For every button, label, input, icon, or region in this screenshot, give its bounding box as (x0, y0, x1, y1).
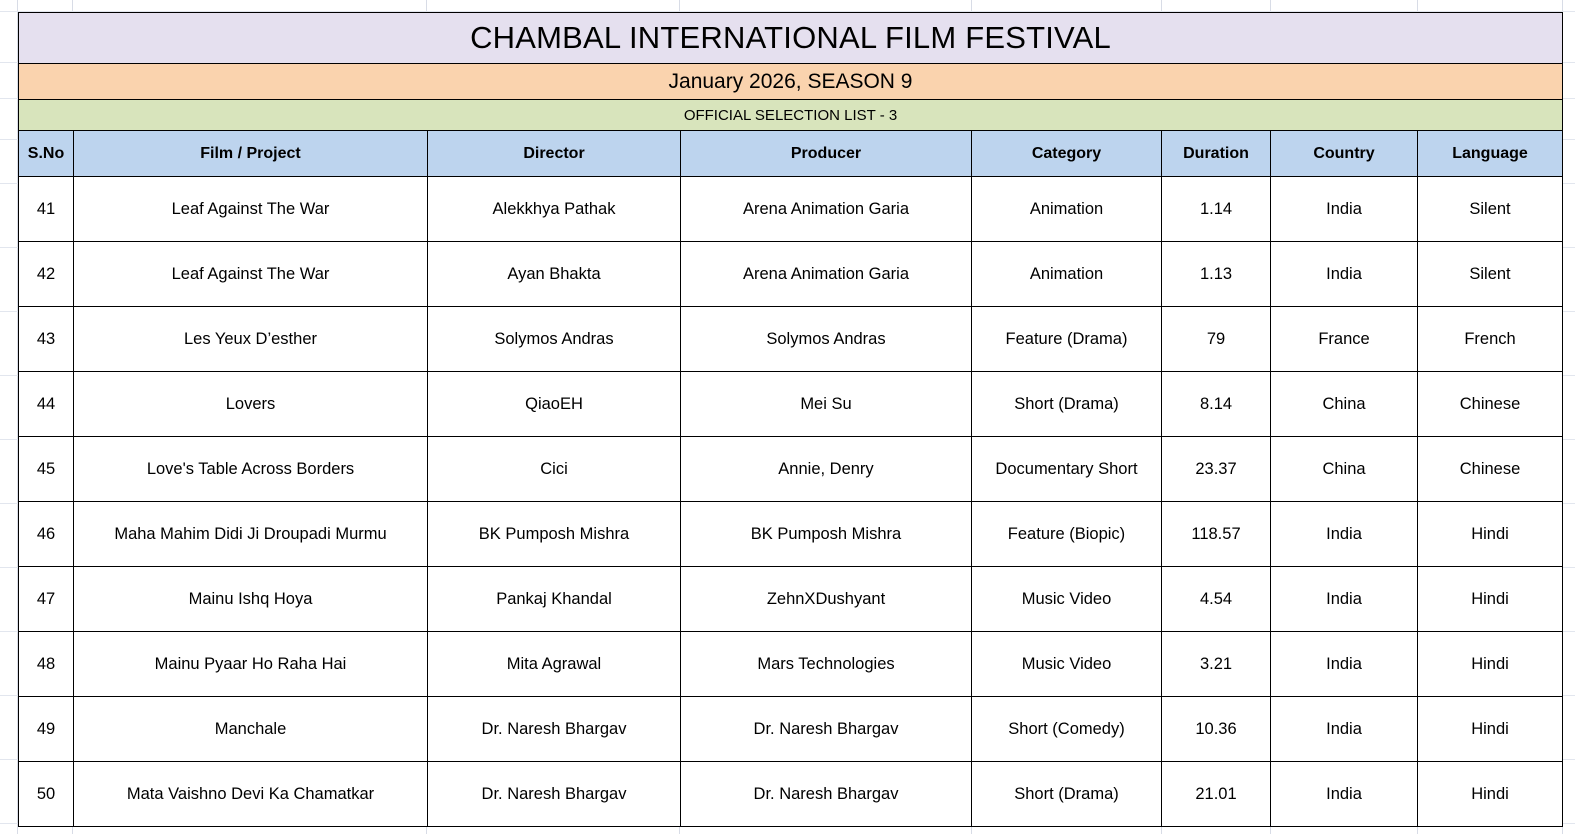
cell-producer[interactable]: Dr. Naresh Bhargav (681, 697, 972, 762)
cell-sno[interactable]: 48 (19, 632, 74, 697)
table-row[interactable]: 44LoversQiaoEHMei SuShort (Drama)8.14Chi… (19, 372, 1563, 437)
cell-country[interactable]: India (1271, 177, 1418, 242)
cell-sno[interactable]: 46 (19, 502, 74, 567)
cell-film[interactable]: Les Yeux D’esther (74, 307, 428, 372)
cell-director[interactable]: Ayan Bhakta (428, 242, 681, 307)
cell-sno[interactable]: 47 (19, 567, 74, 632)
cell-duration[interactable]: 21.01 (1162, 762, 1271, 827)
selection-list-label: OFFICIAL SELECTION LIST - 3 (19, 100, 1563, 131)
cell-sno[interactable]: 49 (19, 697, 74, 762)
table-row[interactable]: 48Mainu Pyaar Ho Raha HaiMita AgrawalMar… (19, 632, 1563, 697)
cell-language[interactable]: Hindi (1418, 502, 1563, 567)
column-header-row: S.No Film / Project Director Producer Ca… (19, 131, 1563, 177)
cell-producer[interactable]: ZehnXDushyant (681, 567, 972, 632)
cell-director[interactable]: Solymos Andras (428, 307, 681, 372)
official-selection-table: CHAMBAL INTERNATIONAL FILM FESTIVAL Janu… (18, 12, 1563, 827)
cell-country[interactable]: India (1271, 632, 1418, 697)
cell-sno[interactable]: 50 (19, 762, 74, 827)
table-row[interactable]: 49ManchaleDr. Naresh BhargavDr. Naresh B… (19, 697, 1563, 762)
cell-country[interactable]: India (1271, 567, 1418, 632)
column-header-country[interactable]: Country (1271, 131, 1418, 177)
cell-sno[interactable]: 45 (19, 437, 74, 502)
cell-director[interactable]: Alekkhya Pathak (428, 177, 681, 242)
cell-film[interactable]: Mainu Pyaar Ho Raha Hai (74, 632, 428, 697)
cell-producer[interactable]: Dr. Naresh Bhargav (681, 762, 972, 827)
table-row[interactable]: 47Mainu Ishq HoyaPankaj KhandalZehnXDush… (19, 567, 1563, 632)
cell-film[interactable]: Leaf Against The War (74, 177, 428, 242)
cell-sno[interactable]: 41 (19, 177, 74, 242)
festival-season-row: January 2026, SEASON 9 (19, 64, 1563, 100)
cell-director[interactable]: Dr. Naresh Bhargav (428, 762, 681, 827)
column-header-producer[interactable]: Producer (681, 131, 972, 177)
cell-country[interactable]: India (1271, 762, 1418, 827)
cell-duration[interactable]: 10.36 (1162, 697, 1271, 762)
selection-list-row: OFFICIAL SELECTION LIST - 3 (19, 100, 1563, 131)
cell-producer[interactable]: Mars Technologies (681, 632, 972, 697)
column-header-duration[interactable]: Duration (1162, 131, 1271, 177)
cell-country[interactable]: India (1271, 697, 1418, 762)
cell-director[interactable]: QiaoEH (428, 372, 681, 437)
cell-category[interactable]: Short (Comedy) (972, 697, 1162, 762)
cell-director[interactable]: Cici (428, 437, 681, 502)
cell-category[interactable]: Short (Drama) (972, 762, 1162, 827)
cell-language[interactable]: Silent (1418, 242, 1563, 307)
cell-language[interactable]: Chinese (1418, 372, 1563, 437)
column-header-category[interactable]: Category (972, 131, 1162, 177)
cell-producer[interactable]: Arena Animation Garia (681, 177, 972, 242)
cell-director[interactable]: Dr. Naresh Bhargav (428, 697, 681, 762)
cell-category[interactable]: Documentary Short (972, 437, 1162, 502)
cell-film[interactable]: Manchale (74, 697, 428, 762)
cell-category[interactable]: Animation (972, 177, 1162, 242)
column-header-sno[interactable]: S.No (19, 131, 74, 177)
table-row[interactable]: 42Leaf Against The WarAyan BhaktaArena A… (19, 242, 1563, 307)
festival-title: CHAMBAL INTERNATIONAL FILM FESTIVAL (19, 13, 1563, 64)
cell-country[interactable]: India (1271, 242, 1418, 307)
cell-language[interactable]: Hindi (1418, 632, 1563, 697)
cell-duration[interactable]: 118.57 (1162, 502, 1271, 567)
table-row[interactable]: 46Maha Mahim Didi Ji Droupadi MurmuBK Pu… (19, 502, 1563, 567)
cell-film[interactable]: Maha Mahim Didi Ji Droupadi Murmu (74, 502, 428, 567)
cell-duration[interactable]: 8.14 (1162, 372, 1271, 437)
cell-language[interactable]: Hindi (1418, 697, 1563, 762)
table-row[interactable]: 45Love's Table Across BordersCiciAnnie, … (19, 437, 1563, 502)
cell-producer[interactable]: Annie, Denry (681, 437, 972, 502)
cell-category[interactable]: Short (Drama) (972, 372, 1162, 437)
cell-country[interactable]: India (1271, 502, 1418, 567)
table-row[interactable]: 43Les Yeux D’estherSolymos AndrasSolymos… (19, 307, 1563, 372)
cell-country[interactable]: China (1271, 372, 1418, 437)
festival-season: January 2026, SEASON 9 (19, 64, 1563, 100)
cell-sno[interactable]: 42 (19, 242, 74, 307)
cell-language[interactable]: French (1418, 307, 1563, 372)
cell-sno[interactable]: 43 (19, 307, 74, 372)
cell-director[interactable]: Pankaj Khandal (428, 567, 681, 632)
cell-film[interactable]: Mata Vaishno Devi Ka Chamatkar (74, 762, 428, 827)
cell-category[interactable]: Animation (972, 242, 1162, 307)
cell-category[interactable]: Feature (Biopic) (972, 502, 1162, 567)
cell-category[interactable]: Music Video (972, 632, 1162, 697)
cell-language[interactable]: Hindi (1418, 762, 1563, 827)
cell-film[interactable]: Lovers (74, 372, 428, 437)
cell-producer[interactable]: Solymos Andras (681, 307, 972, 372)
cell-duration[interactable]: 1.13 (1162, 242, 1271, 307)
cell-director[interactable]: BK Pumposh Mishra (428, 502, 681, 567)
cell-film[interactable]: Leaf Against The War (74, 242, 428, 307)
cell-duration[interactable]: 23.37 (1162, 437, 1271, 502)
cell-producer[interactable]: Arena Animation Garia (681, 242, 972, 307)
cell-film[interactable]: Love's Table Across Borders (74, 437, 428, 502)
cell-duration[interactable]: 79 (1162, 307, 1271, 372)
cell-duration[interactable]: 3.21 (1162, 632, 1271, 697)
column-header-director[interactable]: Director (428, 131, 681, 177)
cell-category[interactable]: Feature (Drama) (972, 307, 1162, 372)
cell-language[interactable]: Chinese (1418, 437, 1563, 502)
cell-sno[interactable]: 44 (19, 372, 74, 437)
table-head: CHAMBAL INTERNATIONAL FILM FESTIVAL Janu… (19, 13, 1563, 131)
table-row[interactable]: 50Mata Vaishno Devi Ka ChamatkarDr. Nare… (19, 762, 1563, 827)
cell-country[interactable]: France (1271, 307, 1418, 372)
cell-film[interactable]: Mainu Ishq Hoya (74, 567, 428, 632)
festival-title-row: CHAMBAL INTERNATIONAL FILM FESTIVAL (19, 13, 1563, 64)
cell-duration[interactable]: 4.54 (1162, 567, 1271, 632)
cell-producer[interactable]: Mei Su (681, 372, 972, 437)
table-row[interactable]: 41Leaf Against The WarAlekkhya PathakAre… (19, 177, 1563, 242)
selection-list-sheet: CHAMBAL INTERNATIONAL FILM FESTIVAL Janu… (18, 12, 1562, 827)
column-header-film[interactable]: Film / Project (74, 131, 428, 177)
cell-producer[interactable]: BK Pumposh Mishra (681, 502, 972, 567)
cell-language[interactable]: Silent (1418, 177, 1563, 242)
table-body: 41Leaf Against The WarAlekkhya PathakAre… (19, 177, 1563, 827)
cell-director[interactable]: Mita Agrawal (428, 632, 681, 697)
cell-duration[interactable]: 1.14 (1162, 177, 1271, 242)
column-header-row-group: S.No Film / Project Director Producer Ca… (19, 131, 1563, 177)
cell-country[interactable]: China (1271, 437, 1418, 502)
cell-language[interactable]: Hindi (1418, 567, 1563, 632)
cell-category[interactable]: Music Video (972, 567, 1162, 632)
column-header-language[interactable]: Language (1418, 131, 1563, 177)
